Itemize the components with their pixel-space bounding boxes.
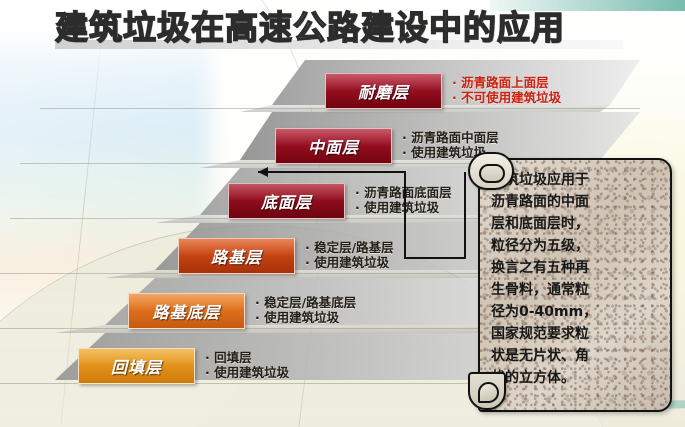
layer-row-2[interactable]: 底面层 沥青路面底面层 使用建筑垃圾 [228, 183, 452, 217]
layer-bullet-4-0: 稳定层/路基底层 [255, 295, 356, 310]
layer-bullets-3: 稳定层/路基层 使用建筑垃圾 [305, 238, 394, 272]
callout-line-5: 生骨料，通常粒 [491, 282, 589, 298]
layer-chip-5[interactable]: 回填层 [78, 348, 195, 384]
callout-line-4: 换言之有五种再 [491, 260, 589, 276]
callout-line-8: ， [583, 304, 597, 320]
layer-chip-4[interactable]: 路基底层 [128, 293, 245, 329]
layer-bullet-0-0: 沥青路面上面层 [452, 75, 561, 90]
layer-bullet-5-1: 使用建筑垃圾 [205, 365, 289, 380]
layer-row-3[interactable]: 路基层 稳定层/路基层 使用建筑垃圾 [178, 238, 394, 272]
layer-bullet-5-0: 回填层 [205, 350, 289, 365]
layer-bullets-2: 沥青路面底面层 使用建筑垃圾 [355, 183, 452, 217]
scroll-curl-bottom-icon [468, 372, 506, 410]
callout-line-3: 粒径分为五级， [491, 238, 589, 254]
layer-chip-1[interactable]: 中面层 [275, 128, 392, 164]
callout-line-10: 状是无片状、角 [491, 348, 589, 364]
callout-emphasis: 0-40mm [519, 304, 583, 320]
layer-name-5: 回填层 [111, 354, 162, 378]
layer-row-0[interactable]: 耐磨层 沥青路面上面层 不可使用建筑垃圾 [325, 73, 561, 107]
scroll-callout[interactable]: 建筑垃圾应用于 沥青路面的中面 层和底面层时， 粒径分为五级， 换言之有五种再 … [468, 152, 675, 414]
layer-bullets-0: 沥青路面上面层 不可使用建筑垃圾 [452, 73, 561, 107]
layer-name-2: 底面层 [261, 189, 312, 213]
layer-name-1: 中面层 [308, 134, 359, 158]
layer-bullet-2-0: 沥青路面底面层 [355, 185, 452, 200]
scroll-curl-top-inner-icon [479, 164, 505, 183]
layer-chip-2[interactable]: 底面层 [228, 183, 345, 219]
layer-row-1[interactable]: 中面层 沥青路面中面层 使用建筑垃圾 [275, 128, 499, 162]
callout-line-2: 层和底面层时， [491, 216, 589, 232]
callout-line-9: 国家规范要求粒 [491, 326, 589, 342]
layer-chip-3[interactable]: 路基层 [178, 238, 295, 274]
scroll-curl-bottom-inner-icon [478, 382, 499, 403]
scroll-callout-body: 建筑垃圾应用于 沥青路面的中面 层和底面层时， 粒径分为五级， 换言之有五种再 … [478, 158, 672, 412]
scroll-callout-text: 建筑垃圾应用于 沥青路面的中面 层和底面层时， 粒径分为五级， 换言之有五种再 … [491, 169, 661, 389]
layer-name-0: 耐磨层 [358, 79, 409, 103]
page-title: 建筑垃圾在高速公路建设中的应用 [55, 6, 625, 50]
layer-chip-0[interactable]: 耐磨层 [325, 73, 442, 109]
scroll-curl-top-icon [468, 152, 514, 190]
layer-bullets-5: 回填层 使用建筑垃圾 [205, 348, 289, 382]
layer-bullet-3-0: 稳定层/路基层 [305, 240, 394, 255]
callout-line-1: 沥青路面的中面 [491, 194, 589, 210]
layer-bullet-2-1: 使用建筑垃圾 [355, 200, 452, 215]
presentation-slide: 建筑垃圾在高速公路建设中的应用 [0, 0, 685, 427]
layer-name-4: 路基底层 [152, 299, 220, 323]
layer-row-4[interactable]: 路基底层 稳定层/路基底层 使用建筑垃圾 [128, 293, 356, 327]
layer-bullets-4: 稳定层/路基底层 使用建筑垃圾 [255, 293, 356, 327]
layer-row-5[interactable]: 回填层 回填层 使用建筑垃圾 [78, 348, 289, 382]
layer-bullet-3-1: 使用建筑垃圾 [305, 255, 394, 270]
callout-line-6: 径为 [491, 304, 519, 320]
layer-name-3: 路基层 [211, 244, 262, 268]
layer-bullet-1-0: 沥青路面中面层 [402, 130, 499, 145]
layer-bullet-0-1: 不可使用建筑垃圾 [452, 90, 561, 105]
layer-bullet-4-1: 使用建筑垃圾 [255, 310, 356, 325]
slide-title: 建筑垃圾在高速公路建设中的应用 [55, 6, 625, 50]
